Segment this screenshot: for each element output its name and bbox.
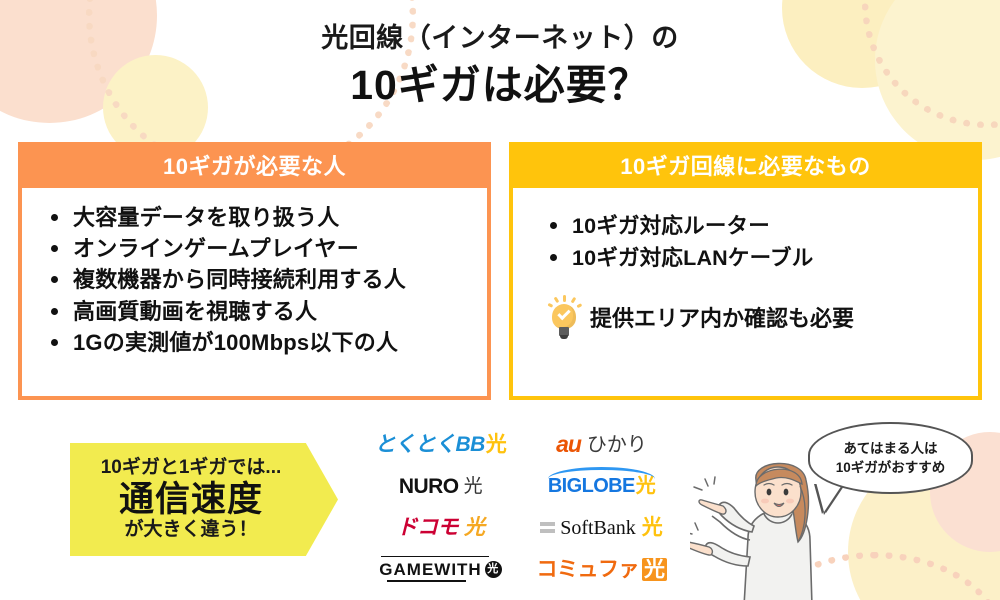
logo-suffix: ひかり	[587, 435, 647, 455]
panel-what-10g-needs: 10ギガ回線に必要なもの 10ギガ対応ルーター 10ギガ対応LANケーブル 提供…	[509, 142, 982, 400]
tip-text: 提供エリア内か確認も必要	[590, 301, 854, 333]
logo-gmo-tokutoku-bb-hikari: とくとくBB光	[375, 434, 507, 455]
title-main: 10ギガは必要？	[0, 60, 1000, 110]
logo-commufa-hikari: コミュファ光	[537, 558, 667, 581]
speech-bubble: あてはまる人は 10ギガがおすすめ	[808, 422, 973, 494]
gamewith-bottom-rule	[387, 580, 465, 582]
logo-suffix: 光	[642, 517, 663, 538]
list-item: 1Gの実測値が100Mbps以下の人	[48, 327, 477, 358]
bubble-line-1: あてはまる人は	[844, 439, 938, 458]
panel-right-heading: 10ギガ回線に必要なもの	[509, 142, 982, 188]
infographic-canvas: 光回線（インターネット）の 10ギガは必要？ 10ギガが必要な人 大容量データを…	[0, 0, 1000, 600]
logo-suffix: 光	[642, 558, 667, 581]
what-10g-needs-list: 10ギガ対応ルーター 10ギガ対応LANケーブル	[547, 210, 968, 275]
logo-text: コミュファ	[537, 559, 640, 580]
list-item: 複数機器から同時接続利用する人	[48, 264, 477, 295]
badge-line-bottom: が大きく違う！	[124, 520, 257, 541]
logo-text: NURO	[399, 476, 459, 497]
panel-left-body: 大容量データを取り扱う人 オンラインゲームプレイヤー 複数機器から同時接続利用す…	[22, 188, 487, 396]
list-item: 10ギガ対応LANケーブル	[547, 242, 968, 274]
panels-row: 10ギガが必要な人 大容量データを取り扱う人 オンラインゲームプレイヤー 複数機…	[18, 142, 982, 400]
logo-nuro-hikari: NURO光	[399, 476, 482, 497]
bubble-line-2: 10ギガがおすすめ	[836, 458, 946, 477]
badge-line-main: 通信速度	[119, 479, 263, 520]
gamewith-top-rule	[381, 556, 489, 558]
list-item: 高画質動画を視聴する人	[48, 296, 477, 327]
biglobe-arc-icon	[548, 467, 655, 479]
logo-text: GAMEWITH	[379, 561, 481, 578]
logo-docomo-hikari: ドコモ光	[397, 517, 485, 538]
panel-who-needs-10g: 10ギガが必要な人 大容量データを取り扱う人 オンラインゲームプレイヤー 複数機…	[18, 142, 491, 400]
logo-text: BIGLOBE	[548, 476, 635, 496]
logo-suffix: 光	[464, 517, 485, 538]
provider-logo-grid: とくとくBB光 auひかり NURO光 BIGLOBE光 ドコモ光 SoftBa…	[360, 424, 682, 590]
page-title: 光回線（インターネット）の 10ギガは必要？	[0, 22, 1000, 110]
logo-suffix: 光	[486, 434, 507, 455]
logo-text: SoftBank	[560, 518, 636, 538]
lightbulb-icon	[547, 295, 581, 339]
title-subtitle: 光回線（インターネット）の	[0, 22, 1000, 56]
logo-suffix: 光	[485, 561, 502, 578]
logo-text: とくとくBB	[375, 434, 485, 455]
character-area: あてはまる人は 10ギガがおすすめ	[690, 418, 1000, 600]
logo-suffix: 光	[636, 476, 655, 496]
panel-left-heading: 10ギガが必要な人	[18, 142, 491, 188]
logo-text: ドコモ	[397, 517, 459, 538]
logo-au-hikari: auひかり	[556, 433, 647, 456]
logo-biglobe-hikari: BIGLOBE光	[548, 476, 655, 496]
badge-line-top: 10ギガと1ギガでは...	[101, 458, 282, 479]
softbank-bars-icon	[540, 522, 555, 533]
panel-right-body: 10ギガ対応ルーター 10ギガ対応LANケーブル 提供エリア内か確認も必要	[513, 188, 978, 396]
area-check-tip: 提供エリア内か確認も必要	[547, 295, 968, 339]
speed-difference-badge: 10ギガと1ギガでは... 通信速度 が大きく違う！	[70, 443, 338, 556]
logo-text: au	[556, 433, 581, 456]
list-item: 10ギガ対応ルーター	[547, 210, 968, 242]
logo-suffix: 光	[464, 477, 483, 496]
logo-gamewith-hikari: GAMEWITH光	[379, 561, 501, 578]
who-needs-10g-list: 大容量データを取り扱う人 オンラインゲームプレイヤー 複数機器から同時接続利用す…	[48, 202, 477, 358]
logo-softbank-hikari: SoftBank光	[540, 517, 663, 538]
list-item: 大容量データを取り扱う人	[48, 202, 477, 233]
list-item: オンラインゲームプレイヤー	[48, 233, 477, 264]
